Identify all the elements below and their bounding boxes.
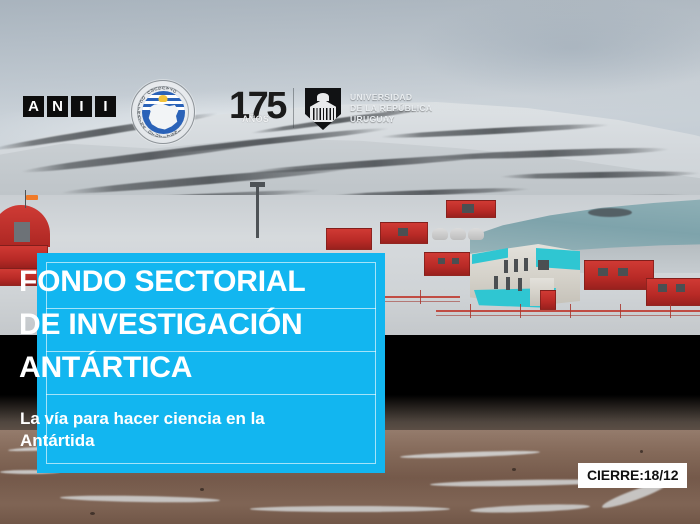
railing-post (470, 304, 471, 318)
udelar-wordmark: UNIVERSIDAD DE LA REPÚBLICA URUGUAY (350, 92, 432, 125)
logo-ring-text: INSTITUTOANTARTICOURUGUAYO (132, 81, 194, 143)
panel-divider (46, 394, 376, 395)
building-window (524, 258, 528, 271)
175-anniversary-logo: 175 AÑOS (229, 92, 285, 130)
anii-letter-i1: I (71, 96, 92, 117)
snow-patch (250, 506, 450, 512)
sea-rock (588, 208, 632, 217)
anii-letter-n: N (47, 96, 68, 117)
logo-divider (293, 88, 294, 128)
building-window (676, 284, 685, 292)
headline-line-3: ANTÁRTICA (19, 353, 192, 383)
base-building (424, 252, 470, 276)
building-window (504, 260, 508, 273)
antenna-mast (256, 186, 259, 238)
building-window (658, 284, 667, 292)
railing-post (620, 304, 621, 318)
building-window (398, 228, 408, 236)
building-window (438, 258, 445, 264)
building-window (518, 278, 522, 291)
udelar-line-1: UNIVERSIDAD (350, 92, 432, 103)
building-window (452, 258, 459, 264)
ground-rock (512, 468, 516, 471)
railing-post (420, 290, 421, 304)
storage-tank (468, 228, 484, 240)
windsock-mast (25, 190, 26, 208)
building-window (494, 276, 498, 289)
logo-bar: A N I I INSTITUTOANTARTICOURUGUAYO 175 A… (0, 38, 700, 100)
storage-tank (432, 228, 448, 240)
building-window (538, 260, 549, 270)
headline-line-1: FONDO SECTORIAL (19, 267, 305, 297)
site-railing (436, 310, 700, 316)
building-window (506, 277, 510, 290)
railing-post (520, 304, 521, 318)
instituto-antartico-uruguayo-logo: INSTITUTOANTARTICOURUGUAYO (131, 80, 195, 144)
headline-subtitle: La vía para hacer ciencia en la Antártid… (20, 408, 320, 452)
ground-rock (200, 488, 204, 491)
base-building (646, 278, 700, 306)
railing-post (670, 304, 671, 318)
base-building (326, 228, 372, 250)
anii-logo: A N I I (23, 96, 116, 117)
building-window (598, 268, 608, 276)
antenna-top (250, 182, 265, 187)
building-window (618, 268, 628, 276)
hangar-door (14, 222, 30, 242)
building-window (514, 259, 518, 272)
udelar-line-2: DE LA REPÚBLICA (350, 103, 432, 114)
promo-banner: A N I I INSTITUTOANTARTICOURUGUAYO 175 A… (0, 0, 700, 524)
udelar-line-3: URUGUAY (350, 114, 432, 125)
building-door (540, 290, 556, 310)
storage-tank (450, 228, 466, 240)
anniversary-word: AÑOS (242, 114, 269, 124)
deadline-badge: CIERRE:18/12 (578, 463, 687, 488)
ground-rock (90, 512, 95, 515)
building-window (462, 204, 474, 213)
windsock (26, 195, 38, 200)
railing-post (570, 304, 571, 318)
anii-letter-a: A (23, 96, 44, 117)
ground-rock (640, 450, 643, 453)
headline-line-2: DE INVESTIGACIÓN (19, 310, 303, 340)
anii-letter-i2: I (95, 96, 116, 117)
